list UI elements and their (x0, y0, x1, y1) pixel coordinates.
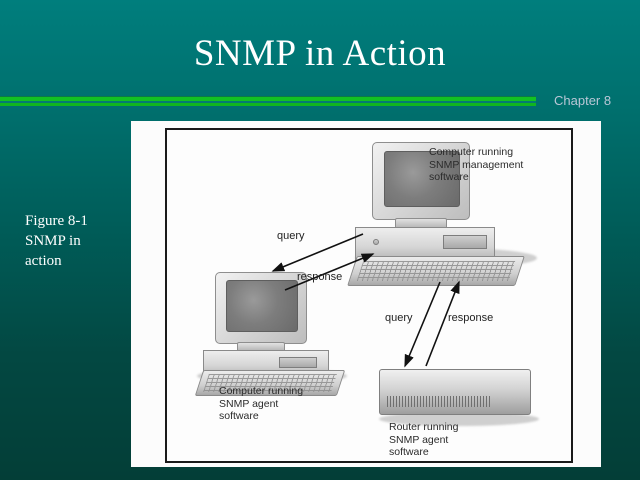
label-response-top: response (297, 271, 342, 283)
label-agent-line-2: SNMP agent (219, 398, 303, 411)
label-agent-line-3: software (219, 410, 303, 423)
figure-caption-line-2: SNMP in (25, 231, 125, 251)
label-query-bottom: query (385, 312, 413, 324)
page-title: SNMP in Action (0, 32, 640, 76)
presentation-slide: SNMP in Action Chapter 8 Figure 8-1 SNMP… (0, 0, 640, 480)
snmp-diagram: Computer running SNMP management softwar… (167, 130, 571, 461)
figure-caption-line-1: Figure 8-1 (25, 211, 125, 231)
title-divider-rule (0, 96, 536, 106)
figure-bordered-area: Computer running SNMP management softwar… (165, 128, 573, 463)
label-management-line-1: Computer running (429, 146, 523, 159)
label-management-line-2: SNMP management (429, 159, 523, 172)
label-router-line-2: SNMP agent (389, 434, 458, 447)
label-router-line-3: software (389, 446, 458, 459)
arrow-response-bottom (426, 282, 459, 366)
arrow-query-bottom (405, 282, 440, 366)
label-query-top: query (277, 230, 305, 242)
label-response-bottom: response (448, 312, 493, 324)
label-router: Router running SNMP agent software (389, 421, 458, 459)
rule-band-bright-lower (0, 103, 536, 106)
label-router-line-1: Router running (389, 421, 458, 434)
chapter-label: Chapter 8 (554, 93, 611, 109)
figure-caption: Figure 8-1 SNMP in action (25, 211, 125, 271)
label-management-line-3: software (429, 171, 523, 184)
label-agent-line-1: Computer running (219, 385, 303, 398)
figure-panel: Computer running SNMP management softwar… (131, 121, 601, 467)
figure-caption-line-3: action (25, 251, 125, 271)
label-management-computer: Computer running SNMP management softwar… (429, 146, 523, 184)
label-agent-computer: Computer running SNMP agent software (219, 385, 303, 423)
